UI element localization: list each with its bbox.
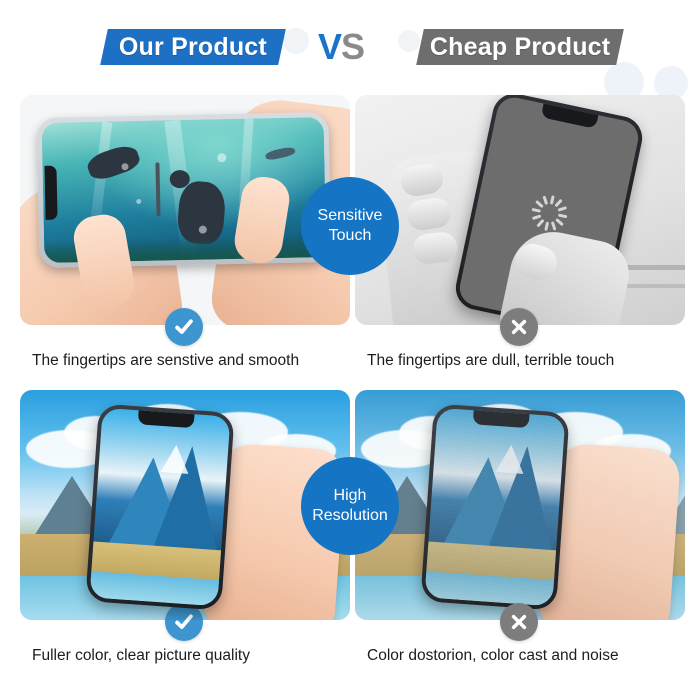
fish — [264, 145, 295, 161]
vs-letter-v: V — [318, 26, 341, 67]
panel-bottom-right-image — [355, 390, 685, 620]
panel-top-right — [355, 95, 685, 325]
phone-screen-landscape-photo — [90, 408, 231, 606]
phone-portrait — [420, 403, 569, 610]
cross-icon — [509, 317, 529, 337]
vs-letter-s: S — [341, 26, 364, 67]
our-product-label: Our Product — [119, 33, 267, 62]
comparison-grid: Sensitive Touch High Resolution The fing… — [0, 92, 700, 700]
caption-bottom-left: Fuller color, clear picture quality — [32, 647, 372, 665]
panel-top-left-image — [20, 95, 350, 325]
diver-upper — [85, 142, 143, 184]
phone-portrait — [85, 403, 234, 610]
decorative-bubble — [283, 28, 309, 54]
diver-main — [176, 179, 227, 245]
caption-top-left: The fingertips are senstive and smooth — [32, 352, 372, 370]
caption-bottom-right: Color dostorion, color cast and noise — [367, 647, 700, 665]
header: Our Product VS Cheap Product — [0, 0, 700, 92]
cheap-product-banner: Cheap Product — [416, 29, 624, 65]
check-icon — [173, 611, 195, 633]
phone-screen-landscape-photo — [425, 408, 566, 606]
phone-notch — [138, 410, 195, 428]
caption-top-right: The fingertips are dull, terrible touch — [367, 352, 700, 370]
badge-check-top-left — [165, 308, 203, 346]
badge-cross-top-right — [500, 308, 538, 346]
feature-line-2: Touch — [329, 226, 372, 246]
feature-badge-high-resolution: High Resolution — [301, 457, 399, 555]
snow-cap — [160, 444, 190, 474]
decorative-bubble — [398, 30, 420, 52]
phone-notch — [44, 166, 57, 220]
check-icon — [173, 316, 195, 338]
trident — [155, 163, 160, 217]
panel-top-left — [20, 95, 350, 325]
noise-overlay — [425, 408, 566, 606]
bubble — [217, 153, 226, 162]
cross-icon — [509, 612, 529, 632]
badge-cross-bottom-right — [500, 603, 538, 641]
feature-line-1: High — [334, 486, 367, 506]
vs-label: VS — [318, 26, 364, 68]
panel-top-right-image — [355, 95, 685, 325]
our-product-banner: Our Product — [100, 29, 286, 65]
feature-line-2: Resolution — [312, 506, 388, 526]
loading-spinner-icon — [528, 192, 571, 235]
panel-bottom-right — [355, 390, 685, 620]
cheap-product-label: Cheap Product — [430, 33, 610, 62]
bubble — [136, 199, 141, 204]
bubble — [121, 163, 128, 170]
feature-badge-sensitive-touch: Sensitive Touch — [301, 177, 399, 275]
comparison-infographic: Our Product VS Cheap Product — [0, 0, 700, 700]
feature-line-1: Sensitive — [318, 206, 383, 226]
